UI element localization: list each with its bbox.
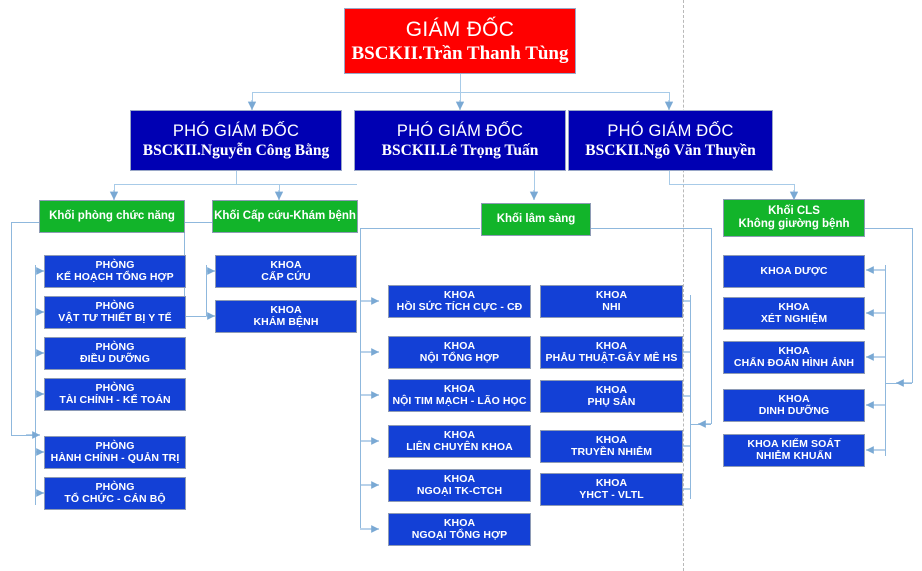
unit-box-clinical-left-2[interactable]: KHOA NỘI TỔNG HỢP (388, 336, 531, 369)
director-role: GIÁM ĐỐC (406, 18, 515, 42)
connector-clinical-right-join (690, 424, 711, 425)
unit-line1: PHÒNG (95, 441, 134, 453)
connector-deputy3-bus (669, 184, 794, 185)
unit-line2: VẬT TƯ THIẾT BỊ Y TẾ (58, 313, 172, 325)
unit-line1: KHOA (596, 290, 627, 302)
unit-line2: KHÁM BỆNH (253, 317, 318, 329)
unit-line2: LIÊN CHUYÊN KHOA (406, 442, 513, 454)
connector-deputy2-stem (534, 171, 535, 198)
org-chart-canvas: GIÁM ĐỐC BSCKII.Trần Thanh Tùng PHÓ GIÁM… (0, 0, 922, 571)
connector-to-deputy-2 (460, 92, 461, 108)
unit-line1: KHOA (444, 384, 475, 396)
unit-line2: NỘI TIM MẠCH - LÃO HỌC (392, 396, 526, 408)
unit-line1: PHÒNG (95, 342, 134, 354)
connector-to-group-cls (794, 184, 795, 198)
unit-box-emergency-1[interactable]: KHOA CẤP CỨU (215, 255, 357, 288)
unit-line1: KHOA (444, 341, 475, 353)
director-box[interactable]: GIÁM ĐỐC BSCKII.Trần Thanh Tùng (344, 8, 576, 74)
unit-line2: XÉT NGHIỆM (761, 314, 827, 326)
deputy-role-2: PHÓ GIÁM ĐỐC (397, 122, 523, 140)
connector-emergency-out (184, 222, 212, 223)
unit-box-functional-5[interactable]: PHÒNG HÀNH CHÍNH - QUẢN TRỊ (44, 436, 186, 469)
unit-box-clinical-right-3[interactable]: KHOA PHỤ SẢN (540, 380, 683, 413)
unit-line1: KHOA (596, 341, 627, 353)
deputy-director-box-2[interactable]: PHÓ GIÁM ĐỐC BSCKII.Lê Trọng Tuấn (354, 110, 566, 171)
connector-cls-spine-inner (885, 265, 886, 456)
unit-line2: TÀI CHÍNH - KẾ TOÁN (59, 395, 170, 407)
unit-line1: KHOA (596, 385, 627, 397)
unit-line2: DINH DƯỠNG (759, 406, 830, 418)
unit-line1: PHÒNG (95, 260, 134, 272)
unit-line2: KẾ HOẠCH TỔNG HỢP (56, 272, 173, 284)
unit-line2: TRUYỀN NHIỄM (571, 447, 652, 459)
unit-line2: TỔ CHỨC - CÁN BỘ (64, 494, 165, 506)
unit-line2: ĐIỀU DƯỠNG (80, 354, 150, 366)
group-header-cls[interactable]: Khối CLS Không giường bệnh (723, 199, 865, 237)
unit-line1: KHOA KIỂM SOÁT (747, 439, 840, 451)
deputy-director-box-3[interactable]: PHÓ GIÁM ĐỐC BSCKII.Ngô Văn Thuyền (568, 110, 773, 171)
unit-line2: CHẨN ĐOÁN HÌNH ẢNH (734, 358, 854, 370)
unit-box-cls-2[interactable]: KHOA XÉT NGHIỆM (723, 297, 865, 330)
unit-line1: KHOA (444, 290, 475, 302)
group-label-functional: Khối phòng chức năng (49, 210, 175, 223)
unit-box-functional-2[interactable]: PHÒNG VẬT TƯ THIẾT BỊ Y TẾ (44, 296, 186, 329)
connector-clinical-spine-left (360, 228, 361, 528)
unit-box-clinical-right-4[interactable]: KHOA TRUYỀN NHIỄM (540, 430, 683, 463)
group-label-cls-line2: Không giường bệnh (738, 218, 849, 231)
group-header-functional[interactable]: Khối phòng chức năng (39, 200, 185, 233)
unit-box-cls-4[interactable]: KHOA DINH DƯỠNG (723, 389, 865, 422)
connector-deputy1-stem (236, 171, 237, 184)
unit-line2: NGOẠI TK-CTCH (417, 486, 502, 498)
unit-line1: KHOA (444, 474, 475, 486)
director-name: BSCKII.Trần Thanh Tùng (351, 43, 568, 64)
connector-clinical-spine-right (711, 228, 712, 424)
unit-line1: KHOA (596, 478, 627, 490)
unit-line2: YHCT - VLTL (579, 490, 643, 502)
connector-deputy1-bus (114, 184, 357, 185)
group-header-clinical[interactable]: Khối lâm sàng (481, 203, 591, 236)
connector-to-group-functional (114, 184, 115, 198)
deputy-director-box-1[interactable]: PHÓ GIÁM ĐỐC BSCKII.Nguyễn Công Bằng (130, 110, 342, 171)
unit-line1: KHOA (270, 305, 301, 317)
unit-box-functional-6[interactable]: PHÒNG TỔ CHỨC - CÁN BỘ (44, 477, 186, 510)
unit-line1: KHOA (596, 435, 627, 447)
unit-box-clinical-left-4[interactable]: KHOA LIÊN CHUYÊN KHOA (388, 425, 531, 458)
unit-box-functional-4[interactable]: PHÒNG TÀI CHÍNH - KẾ TOÁN (44, 378, 186, 411)
connector-deputy3-stem (669, 171, 670, 184)
unit-box-cls-3[interactable]: KHOA CHẨN ĐOÁN HÌNH ẢNH (723, 341, 865, 374)
unit-line2: KHOA DƯỢC (760, 266, 827, 278)
unit-line2: NHIỄM KHUẨN (756, 451, 832, 463)
unit-line1: KHOA (778, 302, 809, 314)
unit-box-clinical-left-6[interactable]: KHOA NGOẠI TỔNG HỢP (388, 513, 531, 546)
connector-clinical-out-right (591, 228, 711, 229)
unit-line1: PHÒNG (95, 383, 134, 395)
unit-line1: PHÒNG (95, 301, 134, 313)
connector-cls-spine-outer (912, 228, 913, 383)
group-header-emergency[interactable]: Khối Cấp cứu-Khám bệnh (212, 200, 358, 233)
deputy-name-3: BSCKII.Ngô Văn Thuyền (585, 142, 755, 159)
unit-box-cls-1[interactable]: KHOA DƯỢC (723, 255, 865, 288)
unit-box-emergency-2[interactable]: KHOA KHÁM BỆNH (215, 300, 357, 333)
unit-line2: HÀNH CHÍNH - QUẢN TRỊ (51, 453, 180, 465)
unit-line1: KHOA (778, 394, 809, 406)
unit-line2: HỒI SỨC TÍCH CỰC - CĐ (397, 302, 523, 314)
unit-line1: PHÒNG (95, 482, 134, 494)
connector-director-stem (460, 74, 461, 92)
connector-functional-spine-inner (35, 265, 36, 505)
connector-functional-spine-outer (11, 222, 12, 435)
connector-to-deputy-3 (669, 92, 670, 108)
unit-box-clinical-left-5[interactable]: KHOA NGOẠI TK-CTCH (388, 469, 531, 502)
connector-clinical-spine-right-inner (690, 295, 691, 499)
unit-line1: KHOA (270, 260, 301, 272)
unit-line2: CẤP CỨU (261, 272, 310, 284)
deputy-name-2: BSCKII.Lê Trọng Tuấn (382, 142, 539, 159)
group-label-emergency: Khối Cấp cứu-Khám bệnh (214, 210, 356, 223)
group-label-clinical: Khối lâm sàng (497, 213, 576, 226)
connector-to-group-emergency (279, 184, 280, 198)
unit-line1: KHOA (444, 430, 475, 442)
connector-functional-spine-join (11, 435, 35, 436)
deputy-role-3: PHÓ GIÁM ĐỐC (607, 122, 733, 140)
unit-line2: NGOẠI TỔNG HỢP (412, 530, 508, 542)
unit-line2: PHỤ SẢN (588, 397, 636, 409)
connector-emergency-spine-join (184, 316, 206, 317)
unit-line2: NHI (602, 302, 620, 314)
unit-line1: KHOA (778, 346, 809, 358)
unit-box-clinical-right-5[interactable]: KHOA YHCT - VLTL (540, 473, 683, 506)
unit-box-functional-3[interactable]: PHÒNG ĐIỀU DƯỠNG (44, 337, 186, 370)
unit-line2: NỘI TỔNG HỢP (420, 353, 500, 365)
connector-emergency-spine-inner (206, 265, 207, 316)
connector-cls-spine-join (885, 383, 912, 384)
dashed-divider (683, 0, 684, 571)
unit-line1: KHOA (444, 518, 475, 530)
unit-box-functional-1[interactable]: PHÒNG KẾ HOẠCH TỔNG HỢP (44, 255, 186, 288)
deputy-role-1: PHÓ GIÁM ĐỐC (173, 122, 299, 140)
connector-clinical-out-left (360, 228, 480, 229)
connector-cls-out (864, 228, 912, 229)
unit-box-clinical-left-3[interactable]: KHOA NỘI TIM MẠCH - LÃO HỌC (388, 379, 531, 412)
group-label-cls-line1: Khối CLS (768, 205, 820, 218)
unit-box-clinical-right-2[interactable]: KHOA PHẪU THUẬT-GÂY MÊ HS (540, 336, 683, 369)
connector-to-deputy-1 (252, 92, 253, 108)
unit-line2: PHẪU THUẬT-GÂY MÊ HS (546, 353, 678, 365)
unit-box-clinical-right-1[interactable]: KHOA NHI (540, 285, 683, 318)
unit-box-cls-5[interactable]: KHOA KIỂM SOÁT NHIỄM KHUẨN (723, 434, 865, 467)
deputy-name-1: BSCKII.Nguyễn Công Bằng (143, 142, 329, 159)
unit-box-clinical-left-1[interactable]: KHOA HỒI SỨC TÍCH CỰC - CĐ (388, 285, 531, 318)
connector-functional-out (11, 222, 39, 223)
